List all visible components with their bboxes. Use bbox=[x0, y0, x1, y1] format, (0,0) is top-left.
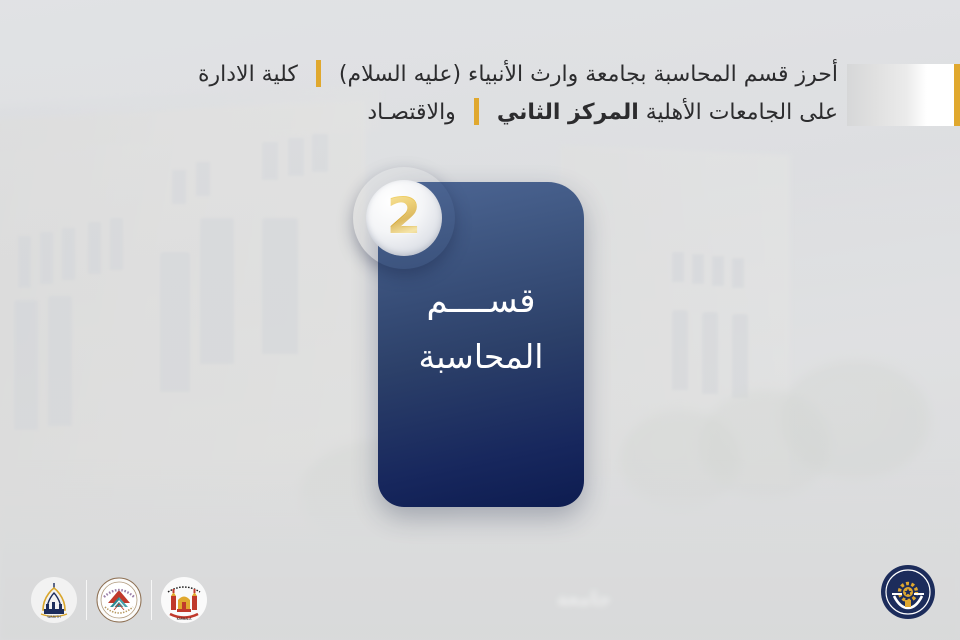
headline-line-1: أحرز قسم المحاسبة بجامعة وارث الأنبياء (… bbox=[198, 56, 838, 94]
headline-line-2: على الجامعات الأهلية المركز الثاني والاق… bbox=[198, 94, 838, 132]
warith-al-anbiya-university-logo-icon: WARITH bbox=[28, 574, 80, 626]
svg-text:WARITH: WARITH bbox=[47, 615, 61, 619]
card-line-1: قســــم bbox=[378, 278, 584, 324]
rank-badge: 2 bbox=[353, 167, 455, 269]
poster-root: أحرز قسم المحاسبة بجامعة وارث الأنبياء (… bbox=[0, 0, 960, 640]
footer-logo-group: WARITH bbox=[28, 574, 210, 626]
card-text-block: قســــم المحاسبة bbox=[378, 278, 584, 380]
card-line-2: المحاسبة bbox=[378, 334, 584, 380]
headline-line-2-rest: على الجامعات الأهلية bbox=[646, 100, 838, 125]
ministry-higher-education-logo-icon bbox=[93, 574, 145, 626]
white-gradient-panel-icon bbox=[847, 64, 955, 126]
gold-separator-icon bbox=[316, 60, 321, 87]
rank-number: 2 bbox=[387, 191, 422, 245]
svg-text:KARBALA: KARBALA bbox=[177, 617, 193, 621]
rank-badge-inner-disc: 2 bbox=[366, 180, 442, 256]
headline-block: أحرز قسم المحاسبة بجامعة وارث الأنبياء (… bbox=[198, 56, 838, 132]
headline-rank-emphasis: المركز الثاني bbox=[497, 100, 639, 125]
headline-org-line-1: كلية الادارة bbox=[198, 62, 298, 87]
logo-divider bbox=[86, 580, 87, 620]
gold-separator-icon bbox=[474, 98, 479, 125]
logo-divider bbox=[151, 580, 152, 620]
college-administration-economics-logo-icon bbox=[880, 564, 936, 620]
al-abbas-holy-shrine-logo-icon: KARBALA bbox=[158, 574, 210, 626]
headline-line-1-main: أحرز قسم المحاسبة بجامعة وارث الأنبياء (… bbox=[339, 62, 838, 87]
header: أحرز قسم المحاسبة بجامعة وارث الأنبياء (… bbox=[0, 56, 960, 142]
gold-edge-bar-icon bbox=[954, 64, 960, 126]
headline-org-line-2: والاقتصـاد bbox=[367, 100, 455, 125]
center-watermark: جامعة bbox=[520, 588, 648, 618]
